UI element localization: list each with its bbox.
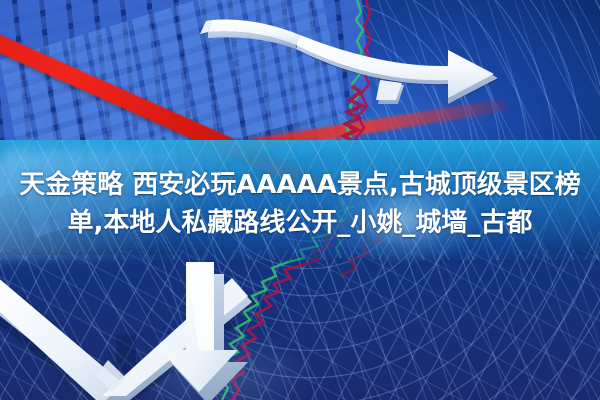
banner-image: 天金策略 西安必玩AAAAA景点,古城顶级景区榜 单,本地人私藏路线公开_小姚_… [0, 0, 600, 400]
headline-line-2: 单,本地人私藏路线公开_小姚_城墙_古都 [0, 204, 600, 242]
white-3d-arrow-right-icon [200, 20, 499, 104]
page-title: 天金策略 西安必玩AAAAA景点,古城顶级景区榜 单,本地人私藏路线公开_小姚_… [0, 166, 600, 242]
white-3d-arrow-down-right-icon [0, 262, 252, 400]
headline-line-1: 天金策略 西安必玩AAAAA景点,古城顶级景区榜 [0, 166, 600, 204]
